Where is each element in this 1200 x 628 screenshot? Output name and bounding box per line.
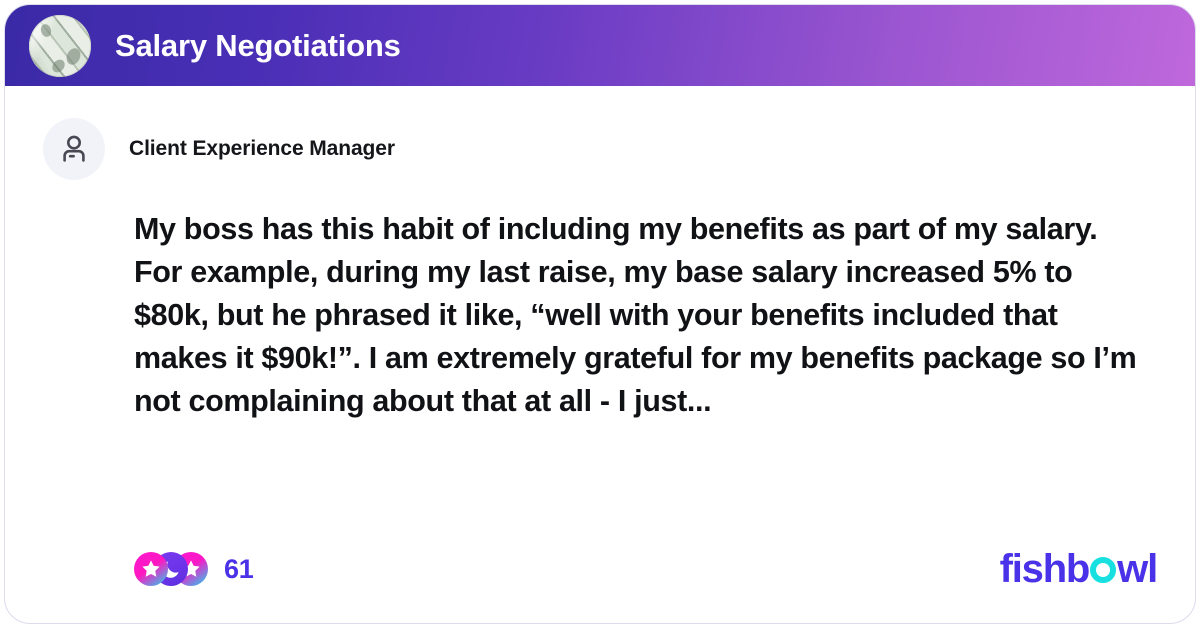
star-reaction-icon[interactable] xyxy=(134,552,168,586)
bowl-title: Salary Negotiations xyxy=(115,28,401,64)
bowl-header[interactable]: Salary Negotiations xyxy=(5,5,1195,86)
brand-text-before: fishb xyxy=(1000,549,1090,589)
fishbowl-logo[interactable]: fishbwl xyxy=(1000,549,1157,589)
reactions-group[interactable]: 61 xyxy=(134,552,253,586)
author-job-title: Client Experience Manager xyxy=(129,137,395,161)
reaction-badges[interactable] xyxy=(134,552,208,586)
author-row[interactable]: Client Experience Manager xyxy=(5,86,1195,180)
brand-text-after: wl xyxy=(1117,549,1157,589)
star-glyph xyxy=(134,552,168,586)
brand-o-ring-icon xyxy=(1090,557,1116,583)
reaction-count: 61 xyxy=(224,554,253,585)
user-icon xyxy=(57,132,91,166)
post-text: My boss has this habit of including my b… xyxy=(134,208,1147,423)
post-body: Client Experience Manager My boss has th… xyxy=(5,86,1195,623)
avatar xyxy=(43,118,105,180)
avatar-edge xyxy=(29,15,91,77)
money-bills-photo-icon xyxy=(29,15,91,77)
post-card[interactable]: Salary Negotiations Client Experience Ma… xyxy=(4,4,1196,624)
post-footer: 61 fishbwl xyxy=(5,515,1195,623)
